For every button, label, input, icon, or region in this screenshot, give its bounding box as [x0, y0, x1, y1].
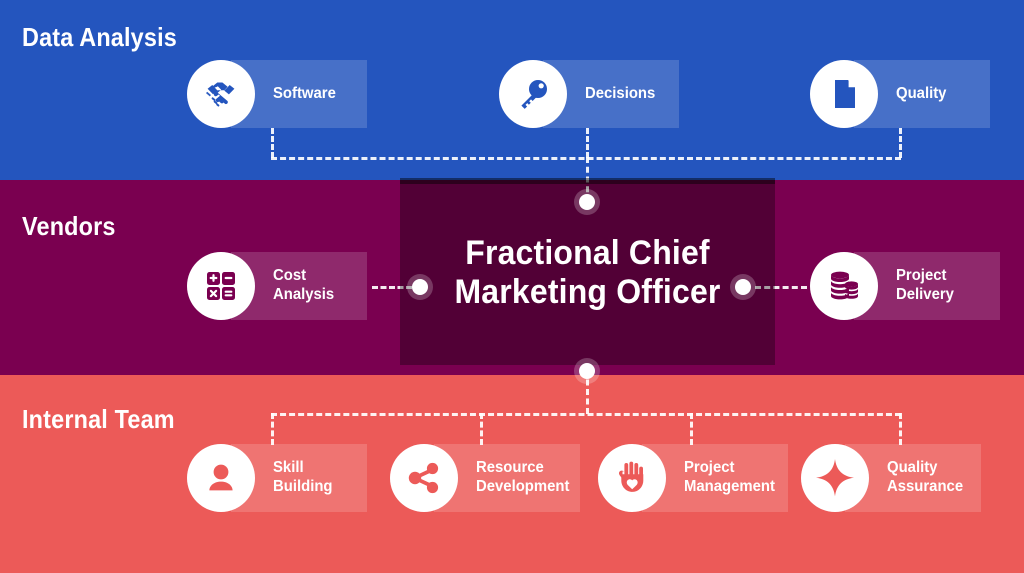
card-cost-analysis[interactable]: Cost Analysis	[187, 252, 367, 320]
key-icon	[499, 60, 567, 128]
center-title-line1: Fractional Chief	[454, 234, 720, 273]
card-decisions[interactable]: Decisions	[499, 60, 679, 128]
connector-decisions-down	[586, 128, 589, 158]
card-quality-top[interactable]: Quality	[810, 60, 990, 128]
calculator-icon	[187, 252, 255, 320]
card-project-delivery[interactable]: Project Delivery	[810, 252, 1000, 320]
card-resource-development[interactable]: Resource Development	[390, 444, 580, 512]
card-label: Project Management	[684, 444, 782, 512]
center-title-line2: Marketing Officer	[454, 273, 720, 312]
card-label: Cost Analysis	[273, 252, 339, 320]
card-quality-assurance[interactable]: Quality Assurance	[801, 444, 981, 512]
card-label: Quality	[896, 60, 950, 128]
card-label: Software	[273, 60, 341, 128]
card-label: Quality Assurance	[887, 444, 969, 512]
connector-bottom-bus	[271, 413, 901, 416]
card-label: Decisions	[585, 60, 661, 128]
document-icon	[810, 60, 878, 128]
person-icon	[187, 444, 255, 512]
card-skill-building[interactable]: Skill Building	[187, 444, 367, 512]
connector-quality-down	[899, 128, 902, 158]
connector-skill-up	[271, 413, 274, 445]
band-title-data-analysis: Data Analysis	[22, 24, 177, 50]
infographic-canvas: Fractional Chief Marketing Officer Data …	[0, 0, 1024, 573]
node-center-bottom	[579, 363, 595, 379]
handshake-icon	[187, 60, 255, 128]
card-software[interactable]: Software	[187, 60, 367, 128]
connector-resource-up	[480, 413, 483, 445]
hand-heart-icon	[598, 444, 666, 512]
sparkle-icon	[801, 444, 869, 512]
coins-icon	[810, 252, 878, 320]
connector-projmgmt-up	[690, 413, 693, 445]
band-title-internal-team: Internal Team	[22, 406, 175, 432]
card-label: Skill Building	[273, 444, 337, 512]
share-icon	[390, 444, 458, 512]
connector-qa-up	[899, 413, 902, 445]
card-project-management[interactable]: Project Management	[598, 444, 788, 512]
band-title-vendors: Vendors	[22, 213, 116, 239]
node-center-left	[412, 279, 428, 295]
node-center-top	[579, 194, 595, 210]
card-label: Resource Development	[476, 444, 576, 512]
node-center-right	[735, 279, 751, 295]
connector-software-down	[271, 128, 274, 158]
card-label: Project Delivery	[896, 252, 958, 320]
